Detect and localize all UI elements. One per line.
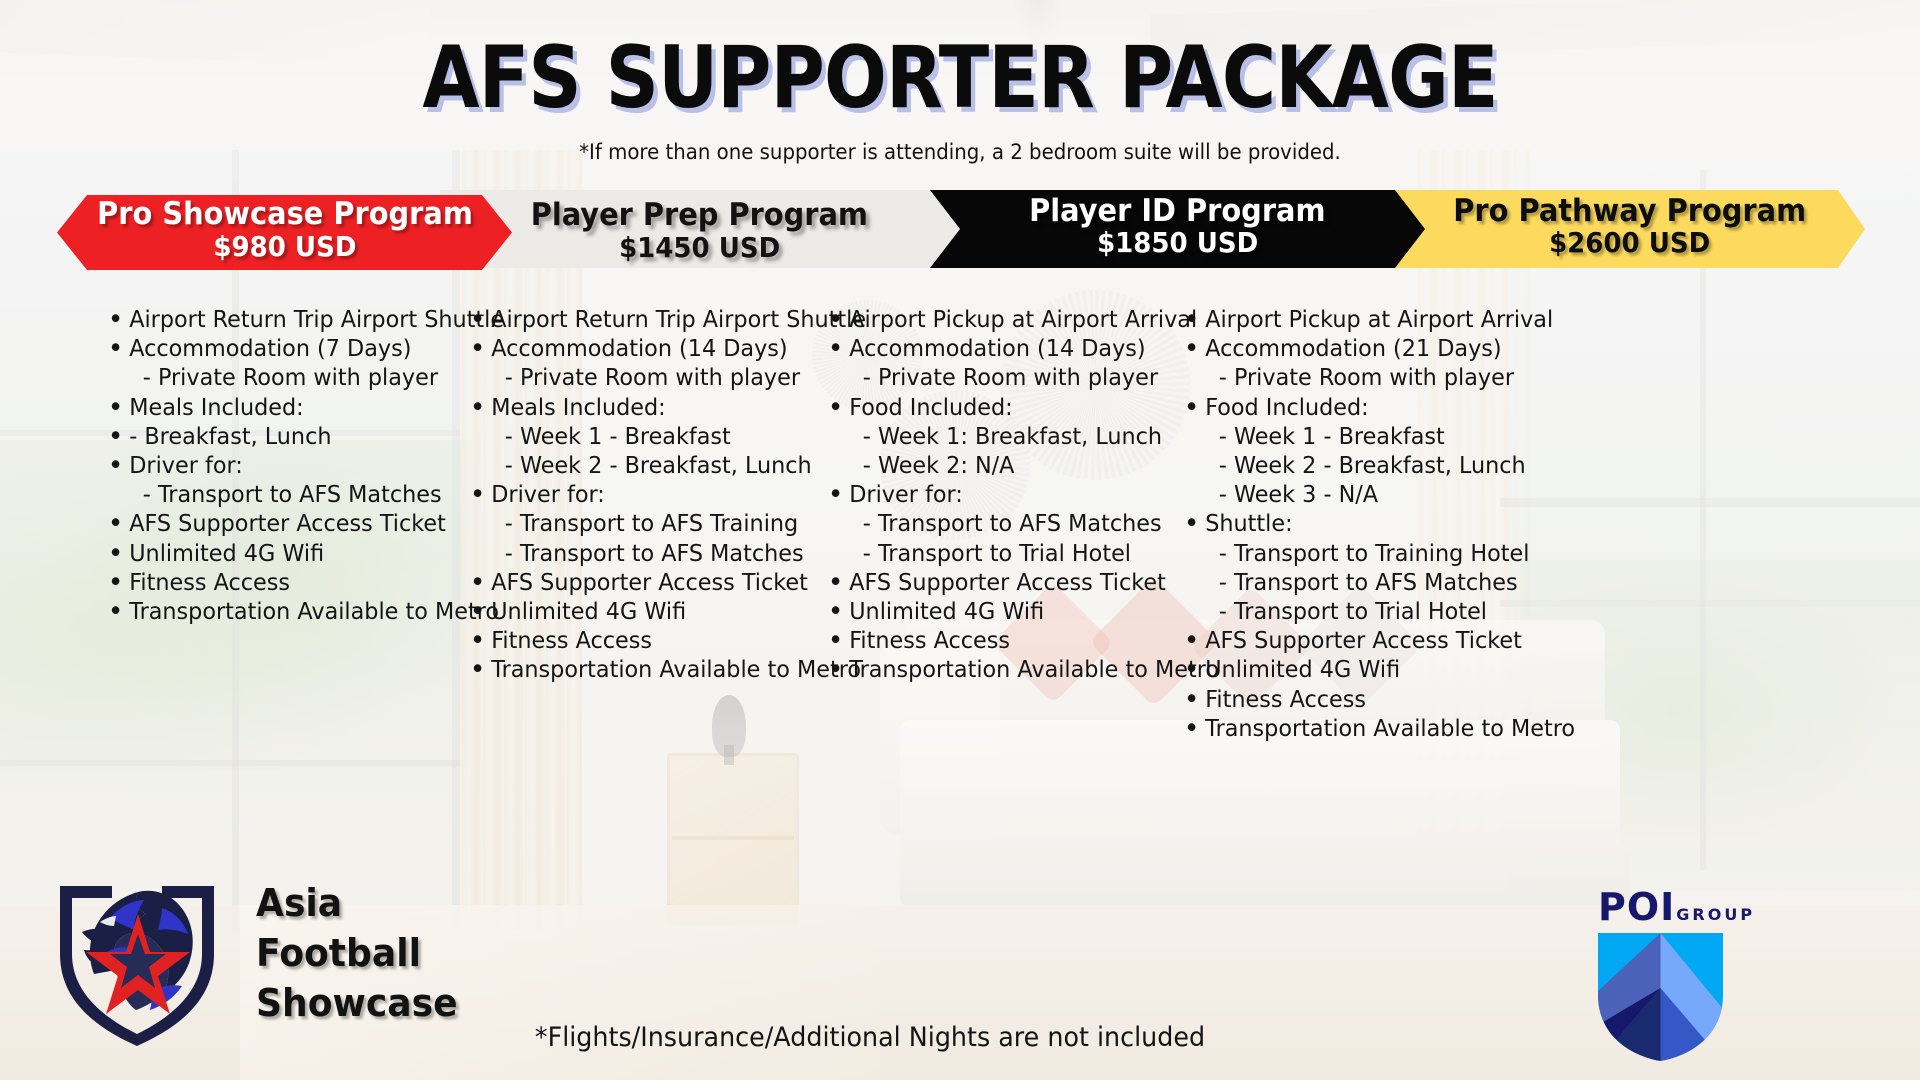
feature-item: Airport Pickup at Airport Arrival [824, 306, 1219, 335]
feature-sub-item: - Private Room with player [1180, 364, 1575, 393]
page-title: AFS SUPPORTER PACKAGE [134, 28, 1785, 128]
package-banner-player-prep-program[interactable]: Player Prep Program $1450 USD [440, 190, 985, 268]
feature-sub-item: - Private Room with player [466, 364, 866, 393]
poi-suffix-text: GROUP [1676, 905, 1755, 924]
feature-list: Airport Return Trip Airport Shuttle Acco… [466, 306, 878, 686]
package-name: Pro Showcase Program [97, 198, 473, 231]
feature-item: Fitness Access [466, 627, 866, 656]
feature-item: Transportation Available to Metro [466, 656, 866, 685]
package-price: $980 USD [213, 231, 356, 263]
feature-item: Food Included: [1180, 394, 1575, 423]
package-price: $1850 USD [1097, 227, 1258, 259]
package-features-pro-pathway-program: Airport Pickup at Airport ArrivalAccommo… [1180, 306, 1587, 744]
feature-item: Meals Included: [466, 394, 866, 423]
feature-item: Shuttle: [1180, 510, 1575, 539]
feature-item: Unlimited 4G Wifi [1180, 656, 1575, 685]
feature-item: Unlimited 4G Wifi [104, 540, 504, 569]
feature-sub-item: - Transport to Trial Hotel [1180, 598, 1575, 627]
feature-item: Fitness Access [824, 627, 1219, 656]
feature-sub-item: - Week 2 - Breakfast, Lunch [1180, 452, 1575, 481]
feature-sub-item: - Transport to AFS Matches [1180, 569, 1575, 598]
feature-list: Airport Return Trip Airport Shuttle Acco… [104, 306, 516, 627]
feature-item: Unlimited 4G Wifi [466, 598, 866, 627]
feature-item: Driver for: [824, 481, 1219, 510]
feature-list: Airport Pickup at Airport ArrivalAccommo… [1180, 306, 1587, 744]
package-banner-player-id-program[interactable]: Player ID Program $1850 USD [930, 190, 1425, 268]
feature-sub-item: - Week 1 - Breakfast [1180, 423, 1575, 452]
afs-shield-icon [42, 858, 232, 1048]
feature-item: - Breakfast, Lunch [104, 423, 504, 452]
feature-list: Airport Pickup at Airport Arrival Accomm… [824, 306, 1231, 686]
afs-word-line-2: Football [256, 928, 458, 978]
afs-word-line-3: Showcase [256, 978, 458, 1028]
feature-sub-item: - Transport to Trial Hotel [824, 540, 1219, 569]
page-subtitle: *If more than one supporter is attending… [58, 140, 1863, 164]
package-price: $2600 USD [1549, 227, 1710, 259]
feature-sub-item: - Private Room with player [104, 364, 504, 393]
afs-word-line-1: Asia [256, 878, 458, 928]
feature-sub-item: - Transport to AFS Training [466, 510, 866, 539]
package-banner-pro-showcase-program[interactable]: Pro Showcase Program $980 USD [57, 195, 512, 270]
feature-sub-item: - Week 1 - Breakfast [466, 423, 866, 452]
feature-item: Airport Pickup at Airport Arrival [1180, 306, 1575, 335]
feature-item: Unlimited 4G Wifi [824, 598, 1219, 627]
package-name: Player Prep Program [531, 199, 868, 232]
feature-item: Driver for: [466, 481, 866, 510]
feature-item: AFS Supporter Access Ticket [1180, 627, 1575, 656]
feature-sub-item: - Week 1: Breakfast, Lunch [824, 423, 1219, 452]
feature-item: Airport Return Trip Airport Shuttle [104, 306, 504, 335]
feature-item: Accommodation (14 Days) [824, 335, 1219, 364]
feature-item: Driver for: [104, 452, 504, 481]
package-name: Player ID Program [1029, 195, 1325, 228]
feature-item: Transportation Available to Metro [104, 598, 504, 627]
feature-item: Fitness Access [1180, 686, 1575, 715]
feature-item: Fitness Access [104, 569, 504, 598]
feature-item: AFS Supporter Access Ticket [104, 510, 504, 539]
package-name: Pro Pathway Program [1454, 195, 1807, 228]
feature-sub-item: - Week 2 - Breakfast, Lunch [466, 452, 866, 481]
package-banner-pro-pathway-program[interactable]: Pro Pathway Program $2600 USD [1395, 190, 1865, 268]
poi-shield-icon [1598, 933, 1723, 1061]
package-price: $1450 USD [619, 232, 780, 264]
feature-item: Airport Return Trip Airport Shuttle [466, 306, 866, 335]
package-features-pro-showcase-program: Airport Return Trip Airport Shuttle Acco… [104, 306, 516, 627]
afs-wordmark: Asia Football Showcase [256, 878, 458, 1028]
package-features-player-prep-program: Airport Return Trip Airport Shuttle Acco… [466, 306, 878, 686]
feature-item: Meals Included: [104, 394, 504, 423]
feature-sub-item: - Transport to AFS Matches [824, 510, 1219, 539]
poi-brand-text: POI [1598, 885, 1675, 929]
feature-sub-item: - Transport to AFS Matches [104, 481, 504, 510]
feature-item: Food Included: [824, 394, 1219, 423]
feature-sub-item: - Private Room with player [824, 364, 1219, 393]
feature-sub-item: - Transport to Training Hotel [1180, 540, 1575, 569]
feature-item: Accommodation (7 Days) [104, 335, 504, 364]
feature-item: AFS Supporter Access Ticket [466, 569, 866, 598]
feature-item: Transportation Available to Metro [1180, 715, 1575, 744]
poi-wordmark: POI GROUP [1598, 885, 1755, 929]
poi-group-logo: POI GROUP [1598, 885, 1755, 1065]
afs-logo: Asia Football Showcase [42, 858, 468, 1048]
feature-item: Accommodation (21 Days) [1180, 335, 1575, 364]
feature-item: Accommodation (14 Days) [466, 335, 866, 364]
feature-sub-item: - Transport to AFS Matches [466, 540, 866, 569]
feature-item: Transportation Available to Metro [824, 656, 1219, 685]
package-features-player-id-program: Airport Pickup at Airport Arrival Accomm… [824, 306, 1231, 686]
feature-item: AFS Supporter Access Ticket [824, 569, 1219, 598]
feature-sub-item: - Week 2: N/A [824, 452, 1219, 481]
feature-sub-item: - Week 3 - N/A [1180, 481, 1575, 510]
